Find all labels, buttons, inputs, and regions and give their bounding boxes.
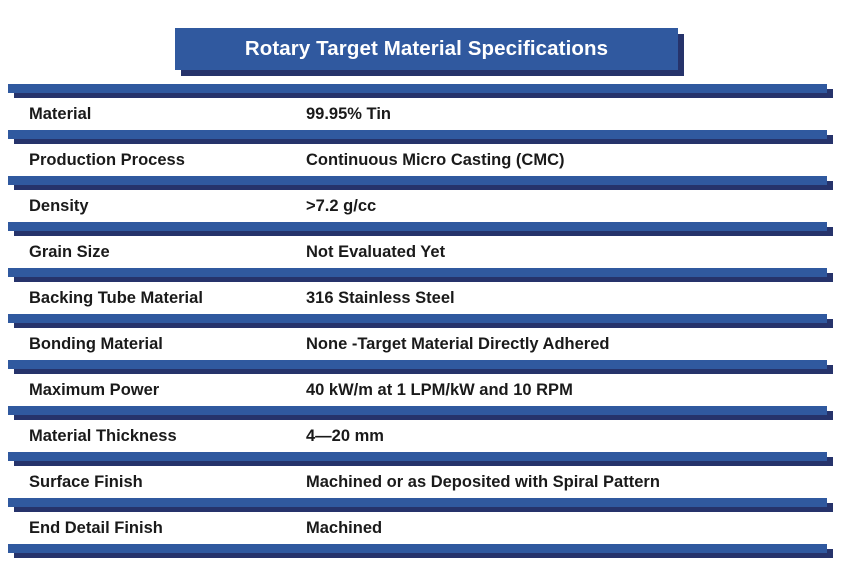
row-value: 4—20 mm [306, 427, 384, 446]
row-separator [0, 314, 851, 328]
row-label: Production Process [29, 151, 185, 170]
row-value-cell: >7.2 g/cc [297, 190, 833, 222]
rotary-target-spec-sheet: Rotary Target Material Specifications Ma… [0, 0, 851, 578]
row-value: >7.2 g/cc [306, 197, 376, 216]
row-label: End Detail Finish [29, 519, 163, 538]
row-separator-bar [8, 314, 827, 323]
row-separator-bar [8, 84, 827, 93]
row-label: Surface Finish [29, 473, 143, 492]
row-value: Continuous Micro Casting (CMC) [306, 151, 564, 170]
row-label: Backing Tube Material [29, 289, 203, 308]
row-label-cell: Material [14, 98, 268, 130]
row-separator [0, 452, 851, 466]
table-row: Bonding MaterialNone -Target Material Di… [0, 328, 851, 360]
row-separator [0, 222, 851, 236]
row-separator-bar [8, 452, 827, 461]
row-value: 40 kW/m at 1 LPM/kW and 10 RPM [306, 381, 573, 400]
row-separator [0, 268, 851, 282]
table-row: Material99.95% Tin [0, 98, 851, 130]
row-label-cell: Backing Tube Material [14, 282, 268, 314]
table-row: End Detail FinishMachined [0, 512, 851, 544]
row-separator-bar [8, 360, 827, 369]
title-banner: Rotary Target Material Specifications [175, 28, 684, 76]
row-label-cell: Density [14, 190, 268, 222]
row-label-cell: Surface Finish [14, 466, 268, 498]
row-separator [0, 176, 851, 190]
row-label-cell: Maximum Power [14, 374, 268, 406]
row-separator [0, 84, 851, 98]
row-value: 99.95% Tin [306, 105, 391, 124]
row-label-cell: End Detail Finish [14, 512, 268, 544]
table-bottom-border [0, 544, 851, 558]
row-label: Maximum Power [29, 381, 159, 400]
table-row: Production ProcessContinuous Micro Casti… [0, 144, 851, 176]
row-separator [0, 360, 851, 374]
row-value-cell: Machined or as Deposited with Spiral Pat… [297, 466, 833, 498]
row-separator [0, 498, 851, 512]
row-value-cell: None -Target Material Directly Adhered [297, 328, 833, 360]
row-label-cell: Material Thickness [14, 420, 268, 452]
row-label: Bonding Material [29, 335, 163, 354]
specifications-table: Material99.95% TinProduction ProcessCont… [0, 84, 851, 558]
row-value-cell: 4—20 mm [297, 420, 833, 452]
row-value: None -Target Material Directly Adhered [306, 335, 610, 354]
row-value: 316 Stainless Steel [306, 289, 455, 308]
row-label: Material Thickness [29, 427, 177, 446]
row-label: Density [29, 197, 89, 216]
row-label: Material [29, 105, 91, 124]
row-label-cell: Production Process [14, 144, 268, 176]
row-separator-bar [8, 268, 827, 277]
table-row: Maximum Power40 kW/m at 1 LPM/kW and 10 … [0, 374, 851, 406]
table-row: Density>7.2 g/cc [0, 190, 851, 222]
page-title: Rotary Target Material Specifications [245, 37, 608, 61]
row-separator [0, 130, 851, 144]
row-label-cell: Bonding Material [14, 328, 268, 360]
row-value: Not Evaluated Yet [306, 243, 445, 262]
table-row: Material Thickness4—20 mm [0, 420, 851, 452]
row-separator-bar [8, 498, 827, 507]
row-value: Machined or as Deposited with Spiral Pat… [306, 473, 660, 492]
row-value-cell: 40 kW/m at 1 LPM/kW and 10 RPM [297, 374, 833, 406]
row-value-cell: 316 Stainless Steel [297, 282, 833, 314]
row-label: Grain Size [29, 243, 110, 262]
row-label-cell: Grain Size [14, 236, 268, 268]
row-separator-bar [8, 176, 827, 185]
row-separator-bar [8, 130, 827, 139]
row-value: Machined [306, 519, 382, 538]
table-row: Backing Tube Material316 Stainless Steel [0, 282, 851, 314]
row-separator [0, 406, 851, 420]
row-separator-bar [8, 406, 827, 415]
title-banner-bar: Rotary Target Material Specifications [175, 28, 678, 70]
row-value-cell: Not Evaluated Yet [297, 236, 833, 268]
row-value-cell: Machined [297, 512, 833, 544]
row-separator-bar [8, 544, 827, 553]
row-value-cell: Continuous Micro Casting (CMC) [297, 144, 833, 176]
row-separator-bar [8, 222, 827, 231]
table-row: Grain SizeNot Evaluated Yet [0, 236, 851, 268]
row-value-cell: 99.95% Tin [297, 98, 833, 130]
table-row: Surface FinishMachined or as Deposited w… [0, 466, 851, 498]
